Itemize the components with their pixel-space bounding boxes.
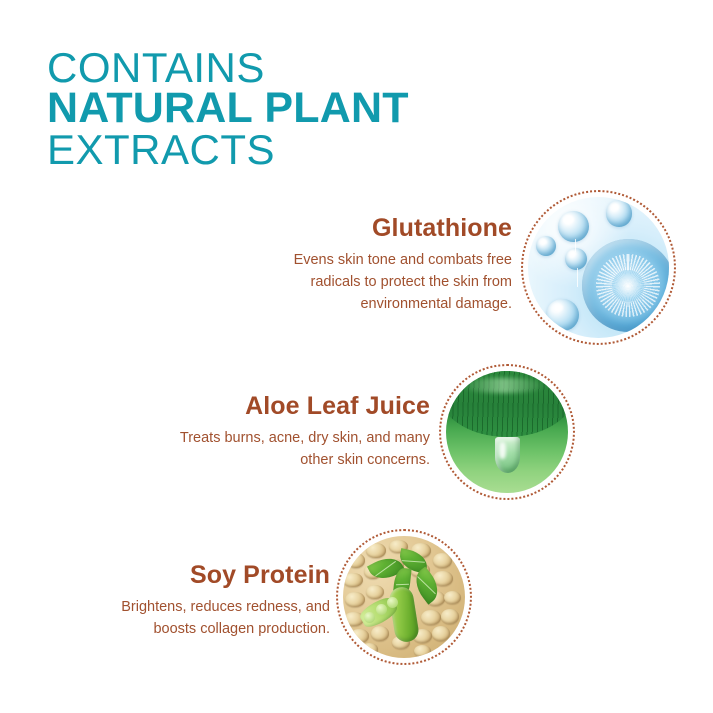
ingredient-text-soy: Soy Protein Brightens, reduces redness, … (76, 561, 330, 640)
heading-line-3: EXTRACTS (47, 130, 409, 170)
ingredient-title: Glutathione (258, 214, 512, 243)
ingredient-description: Brightens, reduces redness, and boosts c… (76, 596, 330, 640)
ingredient-text-glutathione: Glutathione Evens skin tone and combats … (258, 214, 512, 315)
bubble-icon (536, 236, 556, 256)
soybeans-photo (343, 536, 465, 658)
bubble-stem (577, 268, 578, 288)
bubble-stem (575, 239, 576, 252)
water-bubbles-photo (528, 197, 669, 338)
ingredient-description: Evens skin tone and combats free radical… (258, 249, 512, 315)
ingredient-description: Treats burns, acne, dry skin, and many o… (176, 427, 430, 471)
ingredient-image-glutathione (521, 190, 676, 345)
bubble-icon (546, 299, 578, 331)
bubble-icon (606, 200, 633, 227)
ingredient-image-soy (336, 529, 472, 665)
page-title: CONTAINS NATURAL PLANT EXTRACTS (47, 48, 409, 170)
ingredient-text-aloe: Aloe Leaf Juice Treats burns, acne, dry … (176, 392, 430, 471)
bubble-icon (558, 211, 589, 242)
gel-droplet-icon (495, 437, 521, 474)
soy-seed-icon (387, 597, 398, 608)
heading-line-2: NATURAL PLANT (47, 88, 409, 129)
infographic-page: CONTAINS NATURAL PLANT EXTRACTS Glutathi… (0, 0, 713, 713)
aloe-gel-droplet-photo (446, 371, 568, 493)
heading-line-1: CONTAINS (47, 48, 409, 88)
soy-seed-icon (364, 612, 375, 623)
bubble-icon (565, 248, 588, 271)
large-bubble-icon (582, 239, 669, 332)
ingredient-title: Aloe Leaf Juice (176, 392, 430, 421)
ingredient-image-aloe (439, 364, 575, 500)
aloe-highlight (461, 378, 546, 393)
ingredient-title: Soy Protein (76, 561, 330, 590)
